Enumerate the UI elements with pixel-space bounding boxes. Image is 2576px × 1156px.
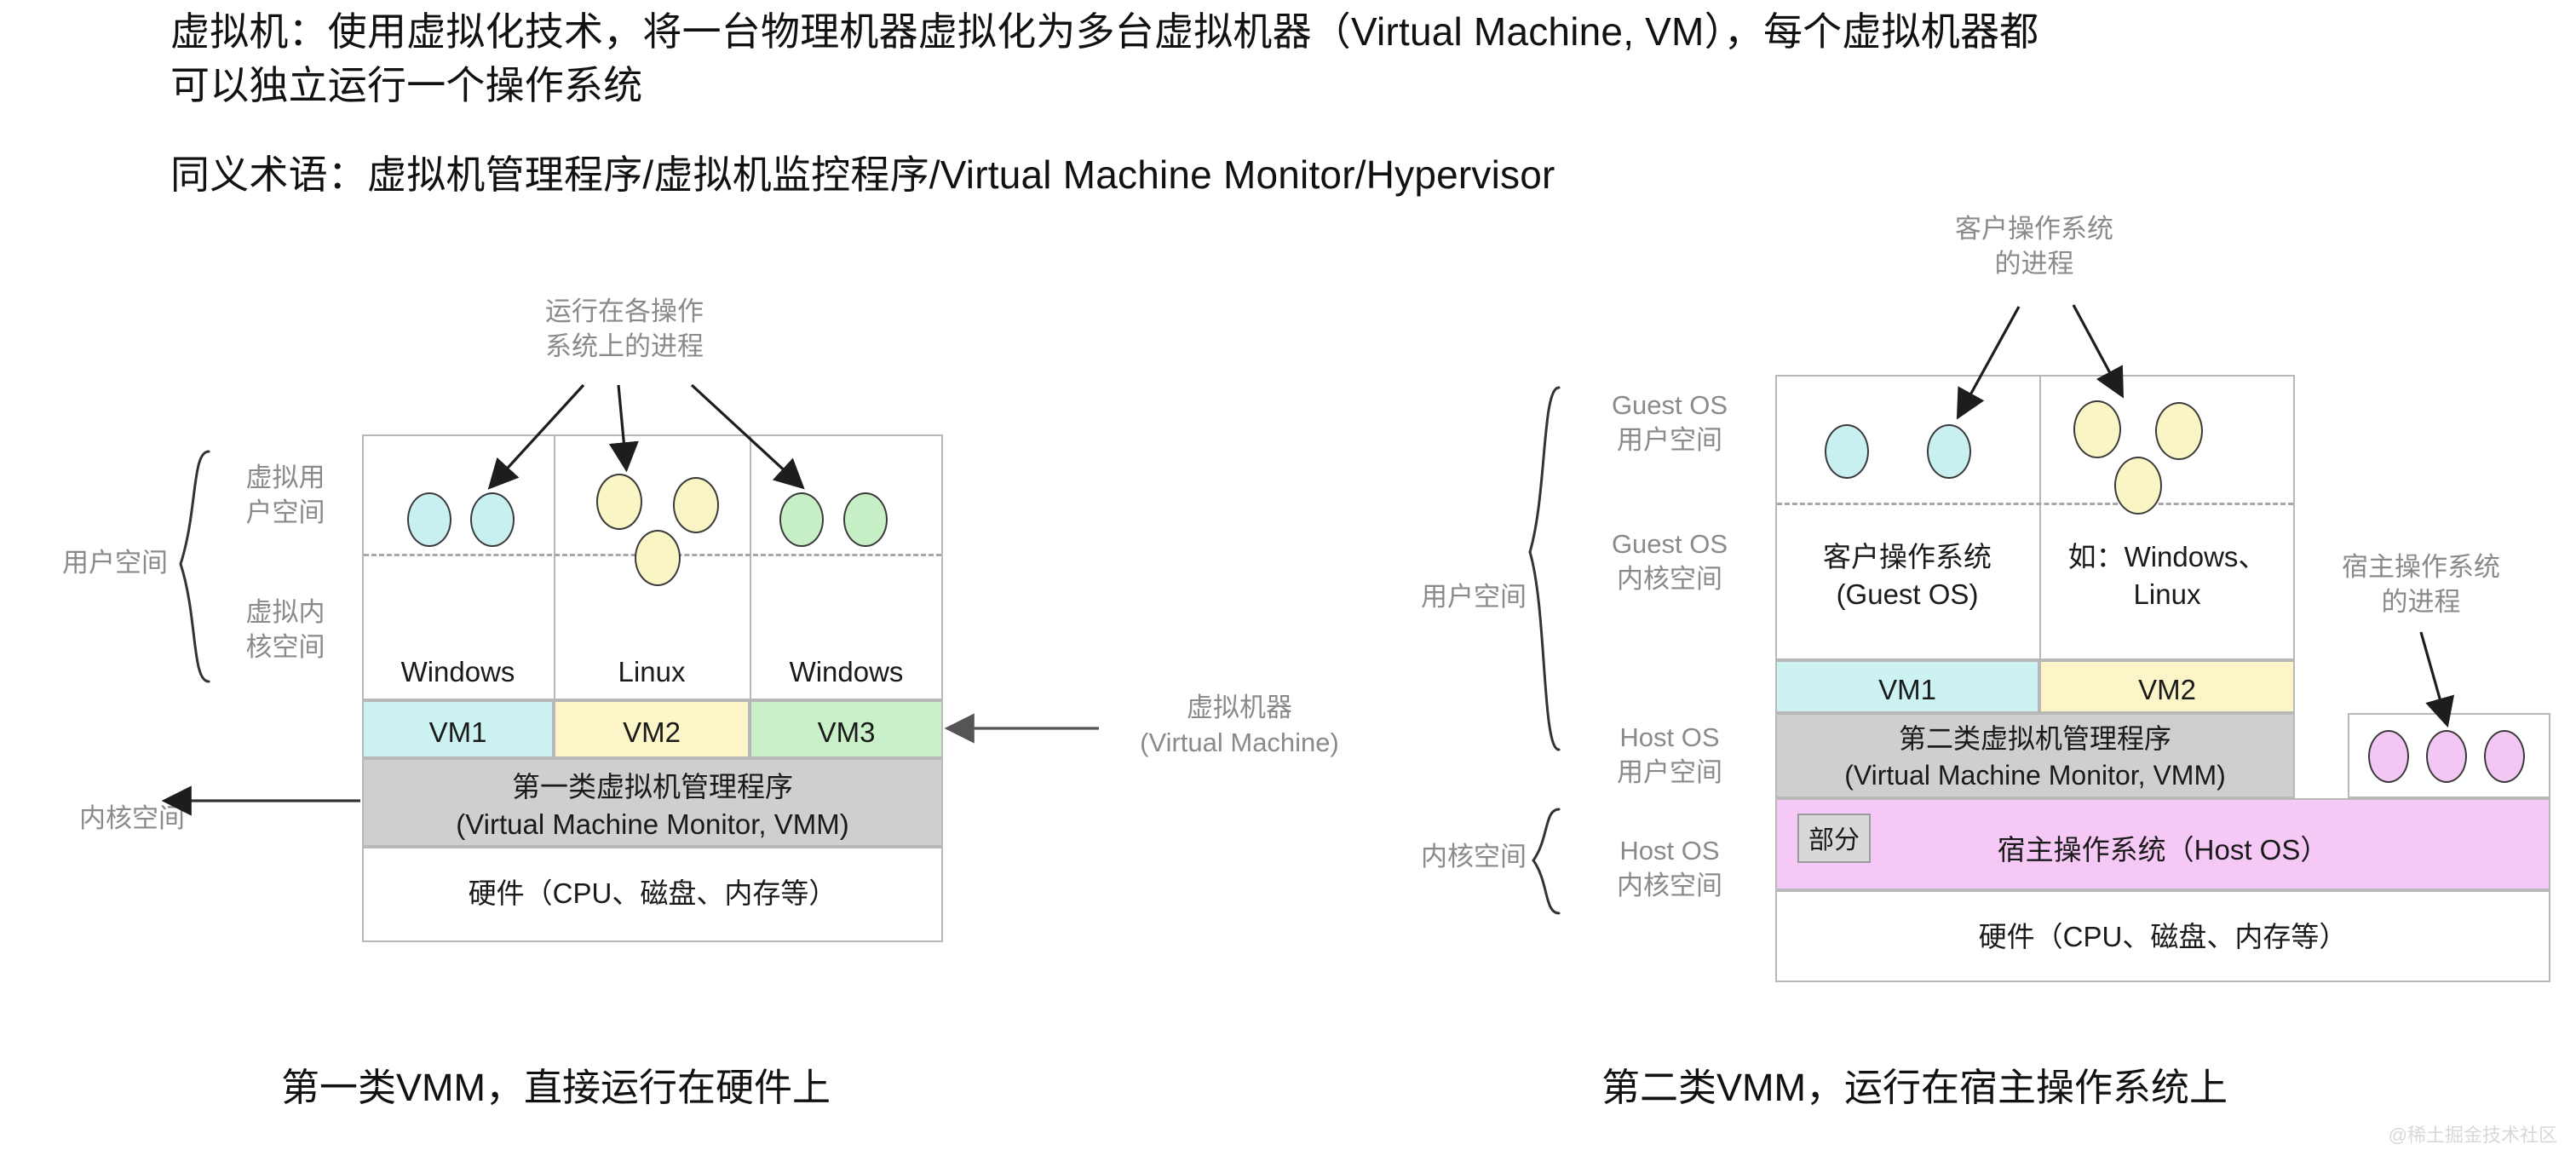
right-caption: 第二类VMM，运行在宿主操作系统上: [1601, 1056, 2228, 1112]
left-os-name-3: Windows: [750, 654, 943, 690]
left-process-ellipse: [673, 477, 719, 533]
right-kernel-space-label: 内核空间: [1389, 839, 1559, 874]
right-guest-kernel-space-line-2: 内核空间: [1584, 561, 1755, 596]
right-host-os-band: 宿主操作系统（Host OS）: [1775, 798, 2550, 890]
left-processes-annotation-line-2: 系统上的进程: [518, 329, 731, 364]
right-guest-user-space-line-2: 用户空间: [1584, 423, 1755, 457]
left-virtual-user-space-label: 虚拟用 户空间: [217, 460, 354, 530]
intro-line-1: 虚拟机：使用虚拟化技术，将一台物理机器虚拟化为多台虚拟机器（Virtual Ma…: [170, 5, 2038, 59]
right-host-process-annotation-line-1: 宿主操作系统: [2310, 549, 2532, 584]
right-guest-process-annotation: 客户操作系统 的进程: [1923, 211, 2145, 281]
right-vm1-label: VM1: [1777, 672, 2038, 708]
right-user-space-brace: [1530, 388, 1559, 750]
right-host-kernel-space-line-2: 内核空间: [1584, 868, 1755, 903]
right-guest-process-annotation-line-2: 的进程: [1923, 246, 2145, 281]
left-virtual-kernel-space-line-2: 核空间: [217, 630, 354, 664]
left-virtual-kernel-space-label: 虚拟内 核空间: [217, 595, 354, 664]
right-vmm-band: 第二类虚拟机管理程序 (Virtual Machine Monitor, VMM…: [1775, 713, 2295, 798]
watermark: @稀土掘金技术社区: [2389, 1120, 2557, 1147]
right-host-process-annotation-line-2: 的进程: [2310, 584, 2532, 619]
right-guest-user-space-line-1: Guest OS: [1584, 388, 1755, 423]
left-process-ellipse: [596, 474, 642, 530]
left-hardware-band: 硬件（CPU、磁盘、内存等）: [362, 847, 943, 942]
right-guest-os-col1: 客户操作系统 (Guest OS): [1775, 538, 2039, 613]
right-guest-process-ellipse: [1825, 424, 1869, 479]
right-guest-process-ellipse: [2073, 400, 2121, 458]
left-vm-callout: 虚拟机器 (Virtual Machine): [1116, 690, 1363, 760]
left-process-ellipse: [779, 492, 824, 547]
right-guest-kernel-space-line-1: Guest OS: [1584, 526, 1755, 561]
left-os-name-2: Linux: [554, 654, 750, 690]
right-host-kernel-space-label: Host OS 内核空间: [1584, 833, 1755, 903]
right-vm2-label: VM2: [2041, 672, 2293, 708]
left-vmm-line-1: 第一类虚拟机管理程序: [364, 769, 941, 805]
left-os-name-1: Windows: [362, 654, 554, 690]
right-guest-os-col2-line-1: 如：Windows、: [2039, 538, 2295, 576]
right-host-user-space-line-1: Host OS: [1584, 720, 1755, 755]
right-guest-kernel-space-label: Guest OS 内核空间: [1584, 526, 1755, 596]
right-guest-os-col2-line-2: Linux: [2039, 576, 2295, 613]
left-vm-callout-line-2: (Virtual Machine): [1116, 725, 1363, 760]
right-host-kernel-space-line-1: Host OS: [1584, 833, 1755, 868]
right-vmm-line-2: (Virtual Machine Monitor, VMM): [1777, 758, 2293, 793]
right-host-os-label: 宿主操作系统（Host OS）: [1777, 832, 2549, 868]
left-processes-annotation: 运行在各操作 系统上的进程: [518, 294, 731, 364]
right-guest-process-ellipse: [2155, 402, 2203, 460]
left-vm-callout-line-1: 虚拟机器: [1116, 690, 1363, 725]
intro-paragraph: 虚拟机：使用虚拟化技术，将一台物理机器虚拟化为多台虚拟机器（Virtual Ma…: [170, 5, 2038, 113]
left-hardware-label: 硬件（CPU、磁盘、内存等）: [364, 876, 941, 912]
right-hardware-label: 硬件（CPU、磁盘、内存等）: [1777, 919, 2549, 955]
right-host-process-ellipse: [2368, 730, 2409, 783]
left-caption: 第一类VMM，直接运行在硬件上: [281, 1056, 831, 1112]
right-guest-os-col1-line-2: (Guest OS): [1775, 576, 2039, 613]
right-vm1-bar: VM1: [1775, 660, 2039, 713]
right-guest-area-frame: [1775, 375, 2295, 660]
right-host-process-ellipse: [2426, 730, 2467, 783]
left-vmm-band: 第一类虚拟机管理程序 (Virtual Machine Monitor, VMM…: [362, 758, 943, 847]
right-guest-process-ellipse: [1927, 424, 1971, 479]
right-guest-process-annotation-line-1: 客户操作系统: [1923, 211, 2145, 246]
left-vm3-bar: VM3: [750, 700, 943, 758]
right-guest-process-ellipse: [2114, 457, 2162, 515]
right-part-badge: 部分: [1797, 814, 1871, 863]
right-part-badge-label: 部分: [1799, 825, 1869, 857]
right-host-user-space-label: Host OS 用户空间: [1584, 720, 1755, 790]
right-vm2-bar: VM2: [2039, 660, 2295, 713]
right-guest-user-kernel-divider: [1777, 503, 2293, 505]
left-vm3-label: VM3: [751, 715, 941, 751]
right-guest-user-space-label: Guest OS 用户空间: [1584, 388, 1755, 457]
right-user-space-label: 用户空间: [1389, 579, 1559, 614]
left-virtual-user-space-line-2: 户空间: [217, 495, 354, 530]
right-guest-os-col1-line-1: 客户操作系统: [1775, 538, 2039, 576]
right-host-user-space-line-2: 用户空间: [1584, 755, 1755, 790]
right-hardware-band: 硬件（CPU、磁盘、内存等）: [1775, 890, 2550, 982]
right-host-process-arrow: [2421, 632, 2447, 722]
left-process-ellipse: [470, 492, 515, 547]
left-vmm-line-2: (Virtual Machine Monitor, VMM): [364, 807, 941, 843]
left-vm2-bar: VM2: [554, 700, 750, 758]
right-host-process-ellipse: [2484, 730, 2525, 783]
right-host-process-annotation: 宿主操作系统 的进程: [2310, 549, 2532, 619]
left-user-space-label: 用户空间: [30, 545, 200, 580]
right-vmm-line-1: 第二类虚拟机管理程序: [1777, 722, 2293, 756]
right-column-divider: [2039, 377, 2041, 659]
intro-line-2: 可以独立运行一个操作系统: [170, 59, 2038, 112]
left-kernel-space-label: 内核空间: [47, 801, 217, 836]
left-processes-annotation-line-1: 运行在各操作: [518, 294, 731, 329]
left-vm2-label: VM2: [555, 715, 748, 751]
right-guest-os-col2: 如：Windows、 Linux: [2039, 538, 2295, 613]
left-virtual-kernel-space-line-1: 虚拟内: [217, 595, 354, 630]
left-process-ellipse: [407, 492, 451, 547]
left-process-ellipse: [843, 492, 888, 547]
synonyms-paragraph: 同义术语：虚拟机管理程序/虚拟机监控程序/Virtual Machine Mon…: [170, 148, 1555, 202]
left-process-ellipse: [635, 530, 681, 586]
left-vm1-bar: VM1: [362, 700, 554, 758]
left-vm1-label: VM1: [364, 715, 552, 751]
left-virtual-user-space-line-1: 虚拟用: [217, 460, 354, 495]
